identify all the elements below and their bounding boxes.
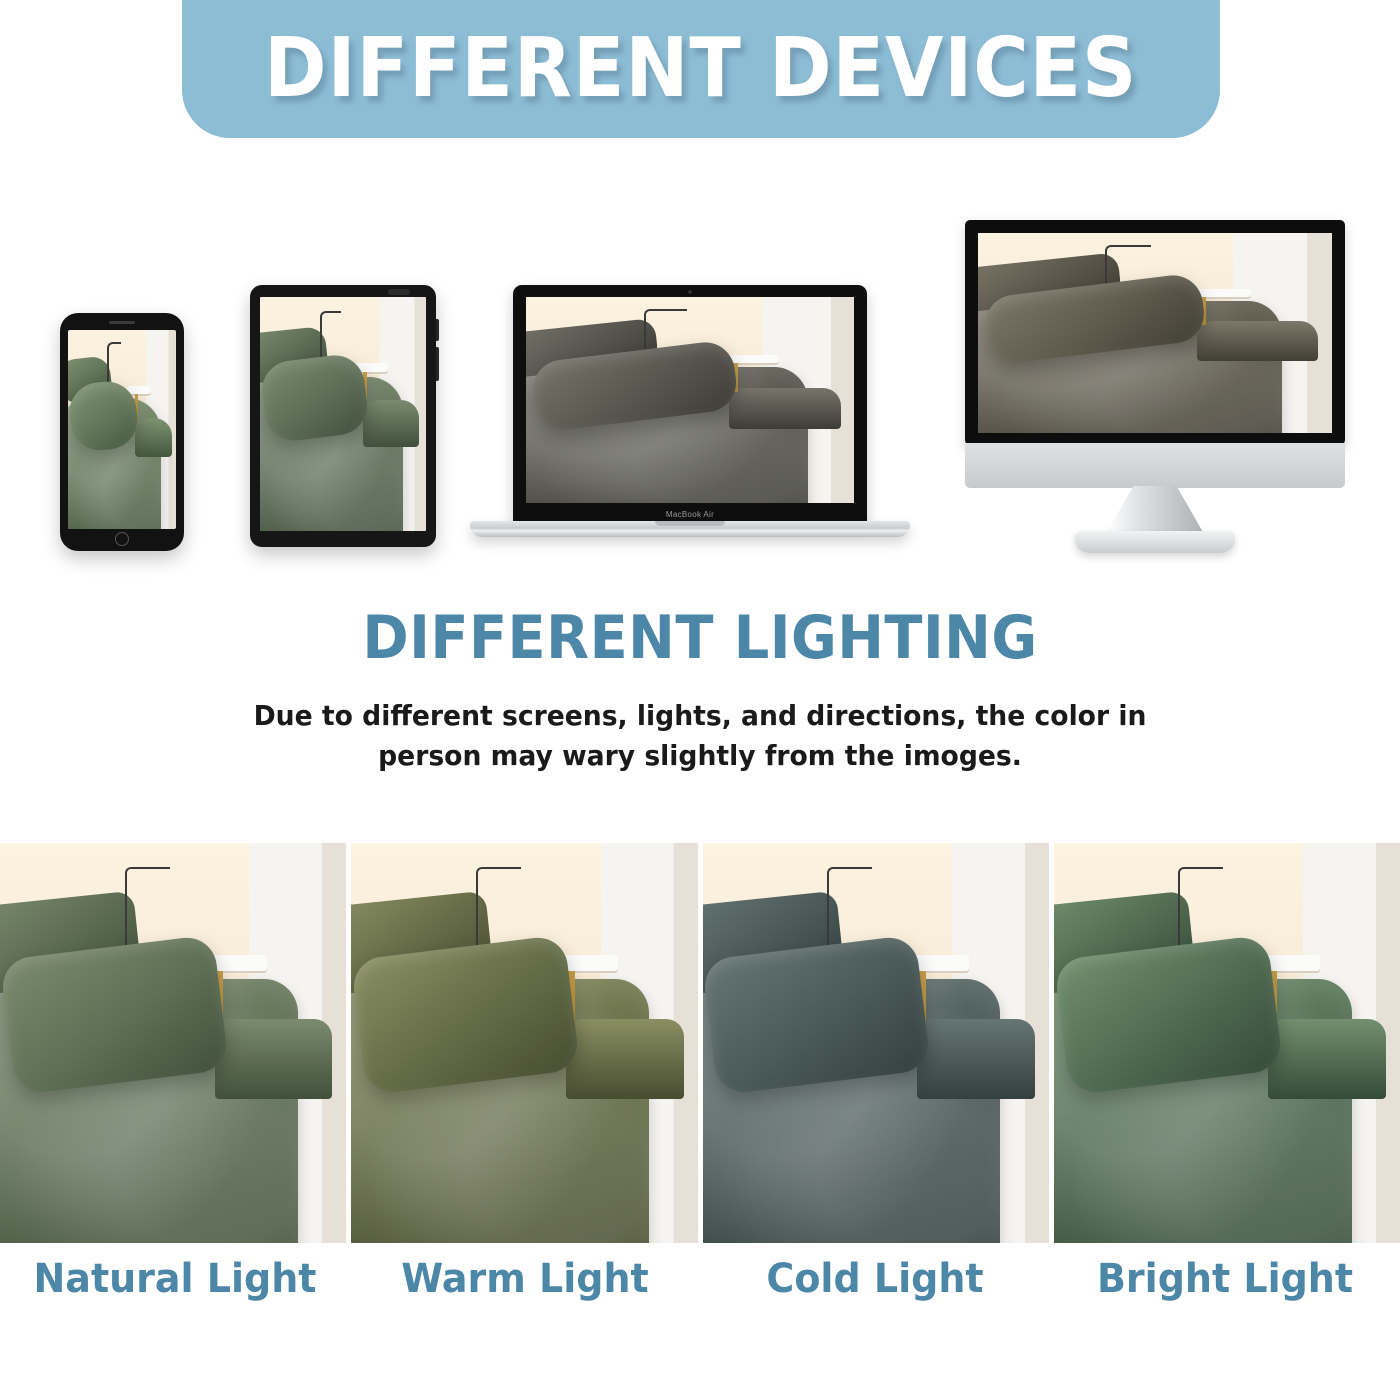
sample-label-bright: Bright Light (1059, 1253, 1392, 1323)
sofa-backrest (351, 891, 494, 996)
infographic-page: DIFFERENT DEVICES (0, 0, 1400, 1400)
sofa-backrest (978, 252, 1121, 314)
sofa-backrest (1054, 891, 1197, 996)
sofa-arm (135, 418, 172, 458)
side-table (190, 955, 266, 971)
sample-cell-cold (703, 843, 1049, 1243)
laptop-camera-icon (688, 290, 692, 294)
sofa-arm (215, 1019, 333, 1099)
sample-photo-natural (0, 843, 346, 1243)
sofa-backrest (0, 891, 143, 996)
sofa-arm (1268, 1019, 1386, 1099)
side-table (542, 955, 618, 971)
monitor-chin (965, 443, 1345, 488)
side-table (893, 955, 969, 971)
sample-cell-bright (1054, 843, 1400, 1243)
side-table-leg (363, 372, 367, 405)
tablet-volume-button[interactable] (436, 347, 439, 381)
sample-photo-warm (351, 843, 697, 1243)
laptop-trackpad-notch (655, 521, 725, 526)
wall-hook-icon (1178, 867, 1223, 963)
laptop-screen-photo (526, 297, 854, 503)
sofa-backrest (703, 891, 846, 996)
tablet-power-button[interactable] (436, 319, 439, 341)
side-table (127, 386, 151, 394)
side-table (1173, 289, 1251, 297)
lighting-samples-grid (0, 843, 1400, 1243)
side-table-leg (566, 971, 575, 1027)
sample-cell-warm (351, 843, 697, 1243)
sample-photo-cold (703, 843, 1049, 1243)
side-table (351, 363, 388, 372)
side-table-leg (135, 394, 138, 422)
device-monitor (955, 220, 1355, 565)
device-laptop: MacBook Air (470, 285, 910, 555)
sofa-backrest (260, 326, 329, 386)
tablet-screen-photo (260, 297, 426, 531)
monitor-stand-neck (1106, 486, 1204, 534)
sample-label-cold: Cold Light (709, 1253, 1042, 1323)
lighting-description: Due to different screens, lights, and di… (216, 696, 1185, 776)
sample-cell-natural (0, 843, 346, 1243)
wall-hook-icon (644, 309, 687, 358)
laptop-lid: MacBook Air (513, 285, 867, 523)
monitor-screen (965, 220, 1345, 445)
lighting-heading: DIFFERENT LIGHTING (49, 608, 1351, 668)
monitor-screen-photo (978, 233, 1332, 433)
side-table (1244, 955, 1320, 971)
sofa-arm (1197, 321, 1317, 361)
wall-hook-icon (107, 342, 121, 390)
wall-hook-icon (320, 311, 342, 367)
wall-hook-icon (1105, 245, 1151, 293)
wall-hook-icon (827, 867, 872, 963)
sample-label-natural: Natural Light (9, 1253, 342, 1323)
side-table-leg (215, 971, 224, 1027)
sample-label-warm: Warm Light (359, 1253, 692, 1323)
sofa-arm (729, 388, 841, 429)
side-table (706, 355, 778, 363)
sofa-arm (566, 1019, 684, 1099)
tablet-camera-icon (388, 289, 410, 295)
device-tablet (250, 285, 436, 547)
phone-home-button-icon (115, 532, 129, 546)
device-phone (60, 313, 184, 551)
phone-speaker-icon (109, 321, 135, 324)
devices-row: MacBook Air (0, 200, 1400, 580)
sofa-backrest (526, 318, 659, 380)
monitor-stand-base (1075, 531, 1235, 553)
sample-photo-bright (1054, 843, 1400, 1243)
header-banner: DIFFERENT DEVICES (182, 0, 1220, 138)
laptop-brand-label: MacBook Air (513, 510, 867, 519)
sofa-arm (363, 400, 419, 447)
phone-screen-photo (68, 330, 176, 529)
side-table-leg (1197, 297, 1206, 325)
sample-labels-row: Natural Light Warm Light Cold Light Brig… (0, 1253, 1400, 1323)
sofa-arm (917, 1019, 1035, 1099)
wall-hook-icon (476, 867, 521, 963)
side-table-leg (729, 363, 737, 392)
side-table-leg (1268, 971, 1277, 1027)
wall-hook-icon (125, 867, 170, 963)
banner-title: DIFFERENT DEVICES (264, 18, 1137, 110)
side-table-leg (917, 971, 926, 1027)
